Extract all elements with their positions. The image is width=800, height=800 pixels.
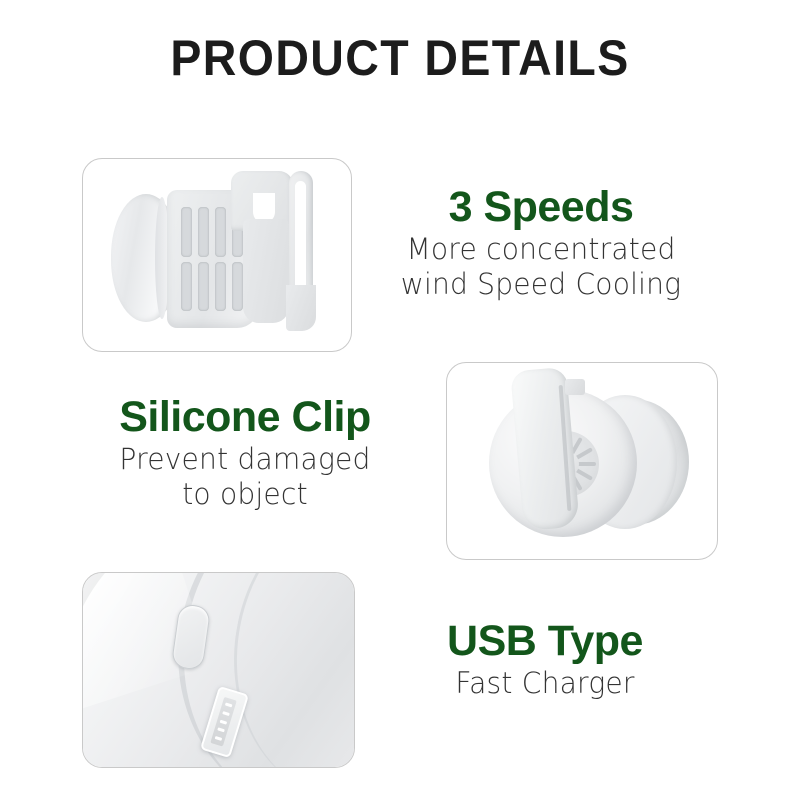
feature-title-silicone-clip: Silicone Clip — [60, 392, 430, 442]
silicone-clip-nub — [565, 379, 585, 395]
feature-subtitle-silicone-clip: Prevent damaged to object — [66, 442, 425, 512]
clip-blade-tip — [286, 285, 316, 331]
feature-image-card-speeds[interactable] — [82, 158, 352, 352]
feature-subtitle-speeds: More concentrated wind Speed Cooling — [371, 232, 711, 302]
feature-text-usb-type: USB Type Fast Charger — [380, 616, 710, 701]
feature-subtitle-speeds-line2: wind Speed Cooling — [371, 267, 711, 302]
feature-subtitle-usb-type: Fast Charger — [385, 666, 705, 701]
clip-blade-slot — [295, 181, 306, 301]
feature-text-silicone-clip: Silicone Clip Prevent damaged to object — [60, 392, 430, 512]
usb-port-macro-illustration — [83, 573, 354, 767]
feature-subtitle-silicone-clip-line1: Prevent damaged — [66, 442, 425, 477]
clip-fan-side-view-illustration — [83, 159, 351, 351]
feature-image-card-silicone-clip[interactable] — [446, 362, 718, 560]
feature-image-card-usb-type[interactable] — [82, 572, 355, 768]
feature-text-speeds: 3 Speeds More concentrated wind Speed Co… — [366, 182, 716, 302]
feature-subtitle-usb-type-line1: Fast Charger — [385, 666, 705, 701]
page-title: PRODUCT DETAILS — [28, 30, 772, 86]
clip-arm-neck — [243, 219, 289, 323]
feature-subtitle-silicone-clip-line2: to object — [66, 477, 425, 512]
feature-title-usb-type: USB Type — [380, 616, 710, 666]
feature-title-speeds: 3 Speeds — [366, 182, 716, 232]
clip-fan-angled-view-illustration — [447, 363, 717, 559]
feature-subtitle-speeds-line1: More concentrated — [371, 232, 711, 267]
product-details-page: PRODUCT DETAILS 3 Speeds More concentrat… — [0, 0, 800, 800]
